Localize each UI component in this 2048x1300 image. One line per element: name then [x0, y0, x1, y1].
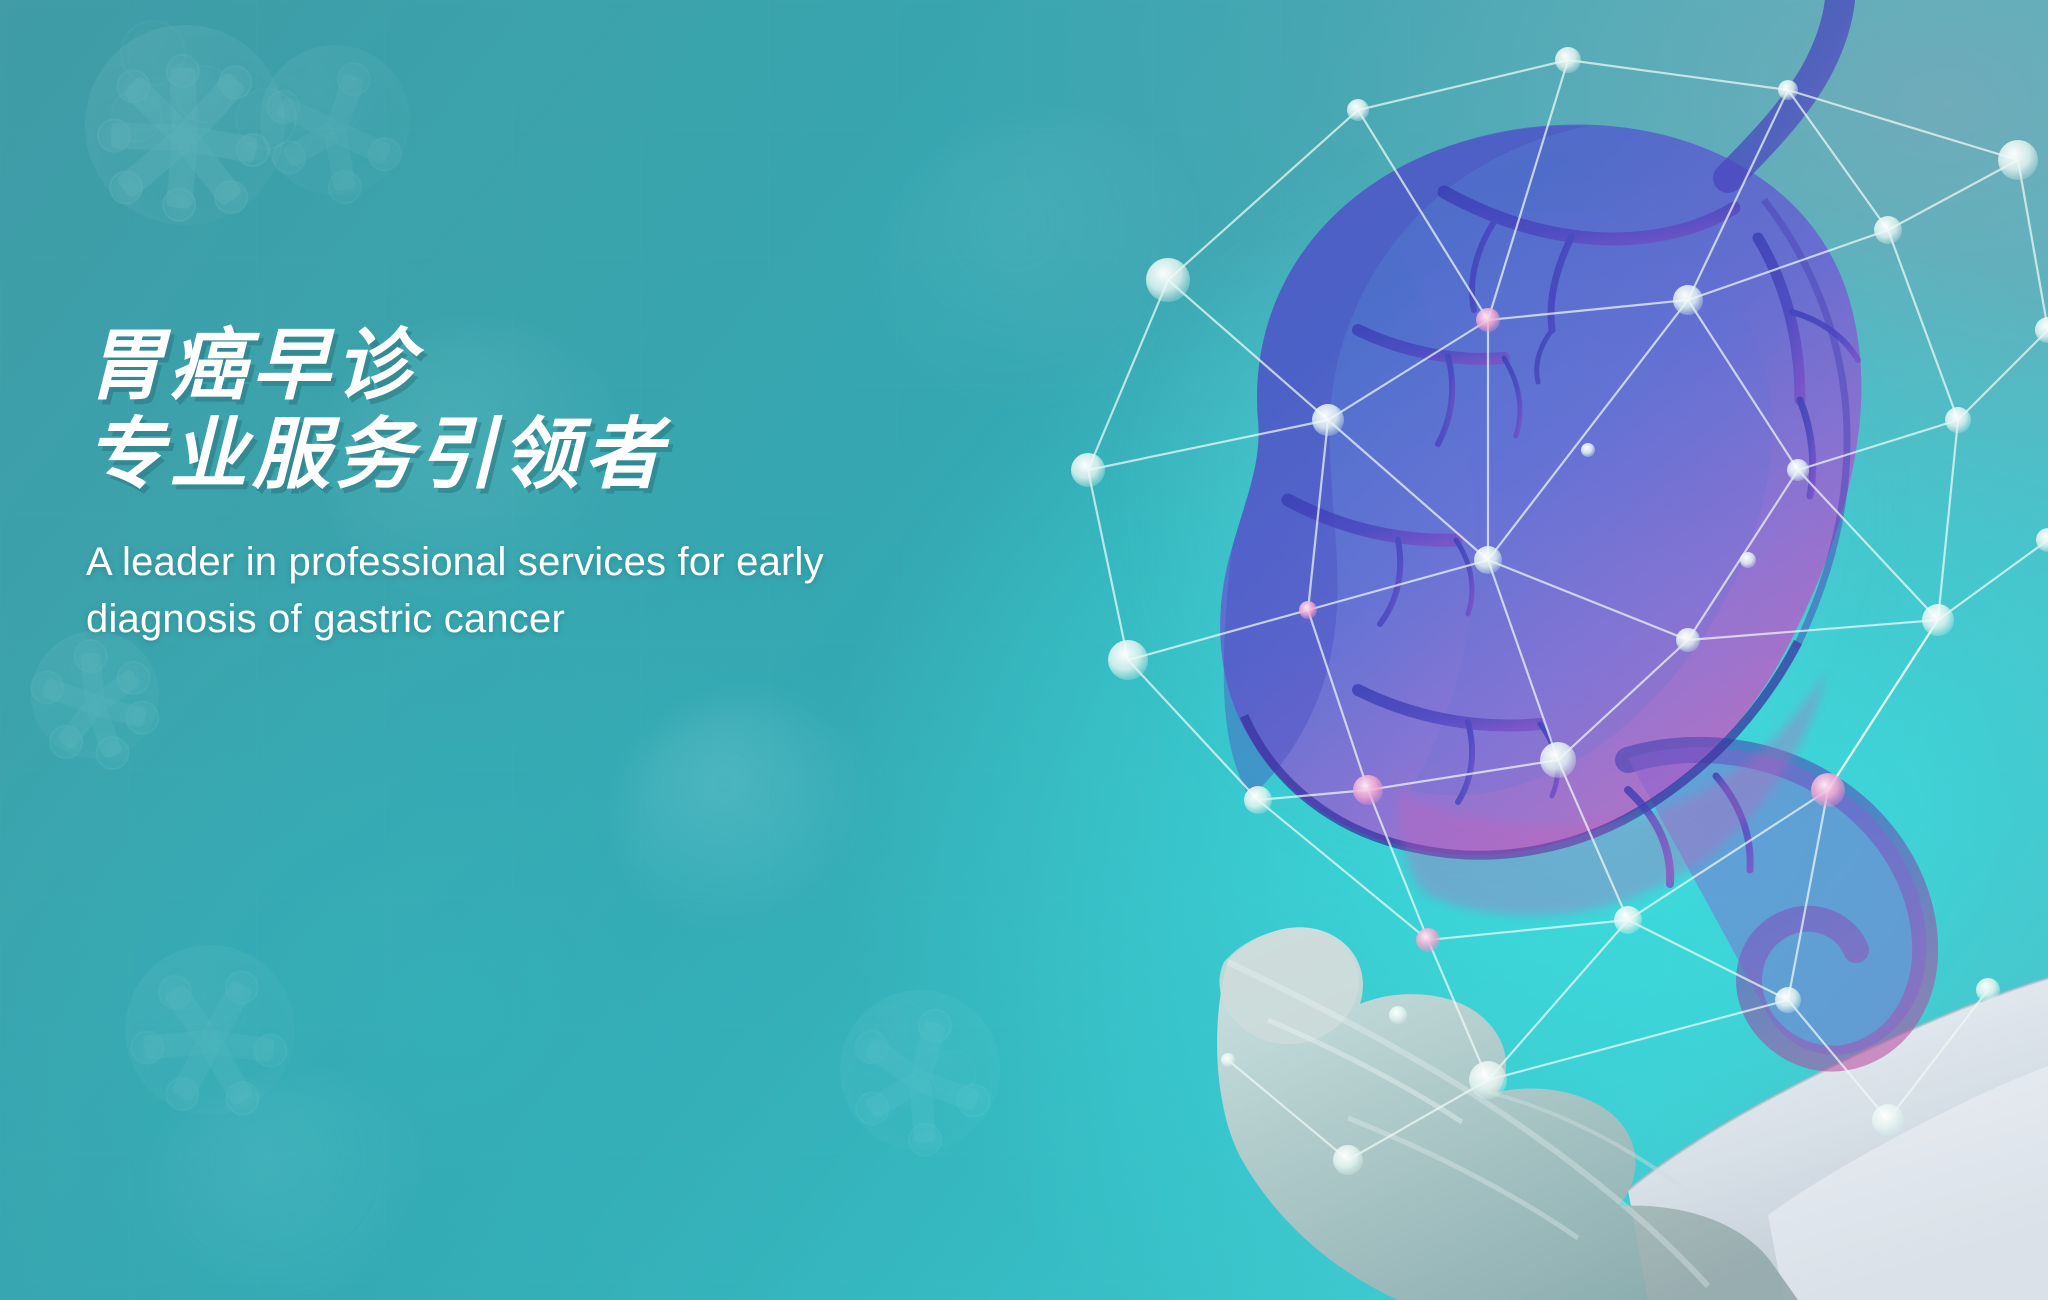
illustration-svg — [928, 0, 2048, 1300]
subtitle-english-line2: diagnosis of gastric cancer — [86, 591, 1086, 648]
headline-text-block: 胃癌早诊 专业服务引领者 A leader in professional se… — [86, 322, 1086, 647]
stomach-organ — [1220, 0, 1926, 1059]
stomach-illustration — [928, 0, 2048, 1300]
headline-chinese-line1: 胃癌早诊 — [86, 322, 1086, 411]
open-hand — [1217, 927, 1798, 1300]
marketing-banner: 胃癌早诊 专业服务引领者 A leader in professional se… — [0, 0, 2048, 1300]
subtitle-english: A leader in professional services for ea… — [86, 534, 1086, 648]
subtitle-english-line1: A leader in professional services for ea… — [86, 534, 1086, 591]
headline-chinese-line2: 专业服务引领者 — [86, 411, 1086, 500]
